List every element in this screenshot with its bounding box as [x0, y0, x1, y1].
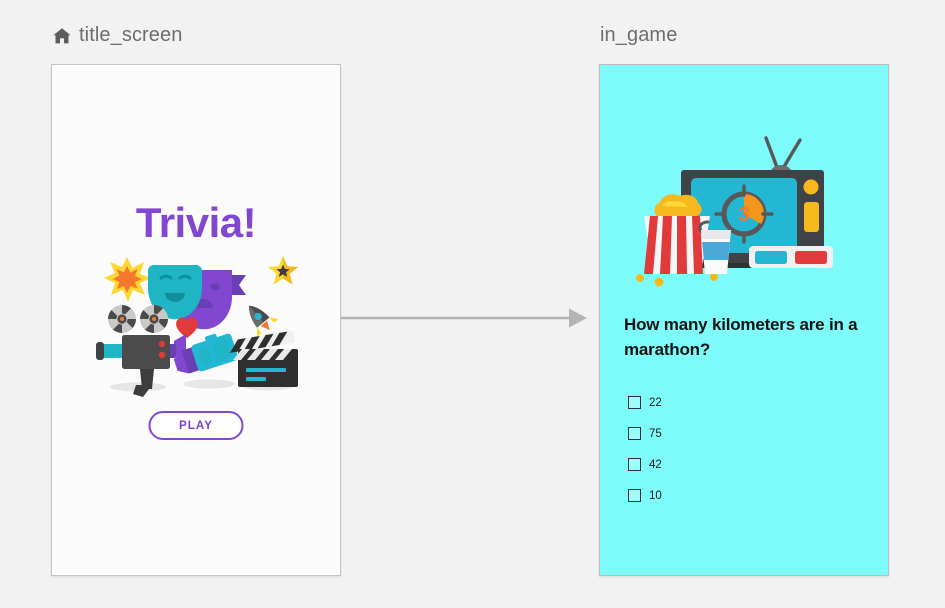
flow-connector-arrow[interactable]: [341, 306, 587, 330]
question-text: How many kilometers are in a marathon?: [624, 313, 858, 362]
answer-checkbox[interactable]: [628, 489, 641, 502]
screen-frame-in-game[interactable]: 3: [599, 64, 889, 576]
tv-popcorn-countdown-illustration: 3: [626, 130, 842, 292]
answer-checkbox[interactable]: [628, 427, 641, 440]
answer-option[interactable]: 75: [628, 418, 838, 449]
answer-label: 10: [649, 490, 662, 502]
play-button[interactable]: PLAY: [149, 411, 244, 440]
game-title: Trivia!: [52, 199, 340, 247]
screen-label-text: in_game: [600, 24, 677, 47]
answer-option[interactable]: 22: [628, 387, 838, 418]
screen-frame-title-screen[interactable]: Trivia!: [51, 64, 341, 576]
flow-canvas: title_screen in_game Trivia!: [0, 0, 945, 608]
answer-option[interactable]: 42: [628, 449, 838, 480]
answer-options-list: 22 75 42 10: [628, 387, 838, 511]
screen-label-title-screen: title_screen: [52, 24, 182, 47]
answer-checkbox[interactable]: [628, 396, 641, 409]
answer-checkbox[interactable]: [628, 458, 641, 471]
entertainment-icons-illustration: [76, 253, 316, 403]
answer-label: 22: [649, 397, 662, 409]
screen-label-in-game: in_game: [600, 24, 677, 47]
answer-label: 75: [649, 428, 662, 440]
svg-text:3: 3: [738, 204, 749, 226]
home-icon: [52, 26, 72, 46]
screen-label-text: title_screen: [79, 24, 182, 47]
answer-label: 42: [649, 459, 662, 471]
answer-option[interactable]: 10: [628, 480, 838, 511]
